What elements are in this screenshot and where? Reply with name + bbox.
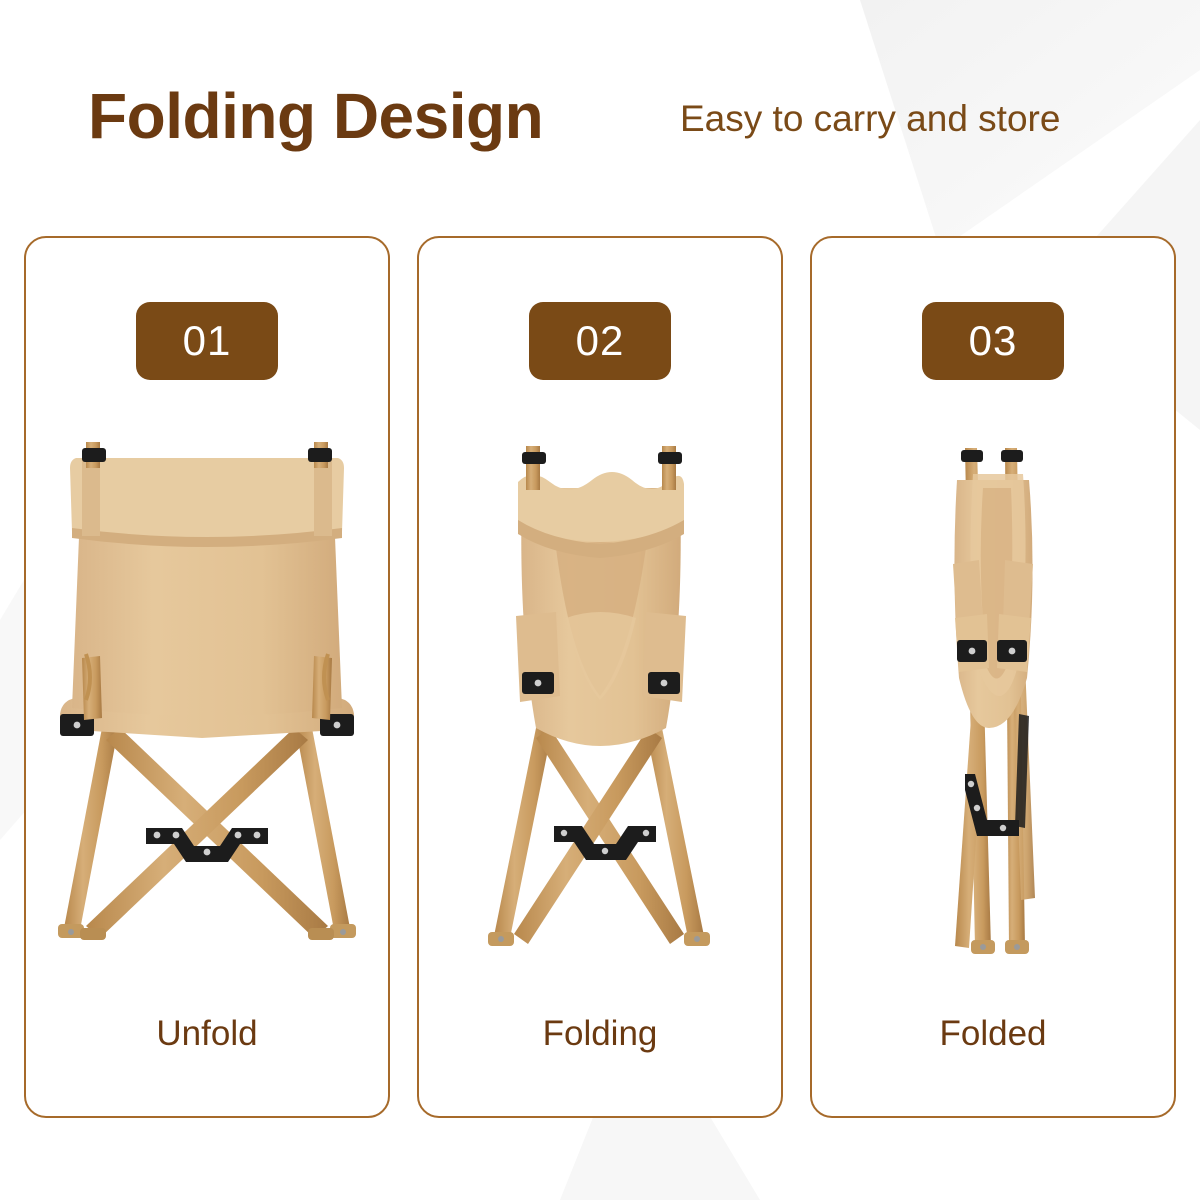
page-subtitle: Easy to carry and store bbox=[680, 100, 1060, 137]
camping-chair-folded bbox=[812, 418, 1174, 978]
step-card-01: 01 bbox=[24, 236, 390, 1118]
steps-container: 01 bbox=[24, 236, 1176, 1118]
page-title: Folding Design bbox=[88, 84, 543, 148]
camping-chair-unfolded bbox=[26, 418, 388, 978]
step-card-03: 03 bbox=[810, 236, 1176, 1118]
step-badge-02: 02 bbox=[529, 302, 671, 380]
step-badge-03: 03 bbox=[922, 302, 1064, 380]
step-caption-01: Unfold bbox=[26, 1014, 388, 1054]
step-card-02: 02 bbox=[417, 236, 783, 1118]
camping-chair-folding bbox=[419, 418, 781, 978]
header: Folding Design Easy to carry and store bbox=[0, 0, 1200, 210]
step-caption-03: Folded bbox=[812, 1014, 1174, 1054]
step-badge-01: 01 bbox=[136, 302, 278, 380]
step-caption-02: Folding bbox=[419, 1014, 781, 1054]
